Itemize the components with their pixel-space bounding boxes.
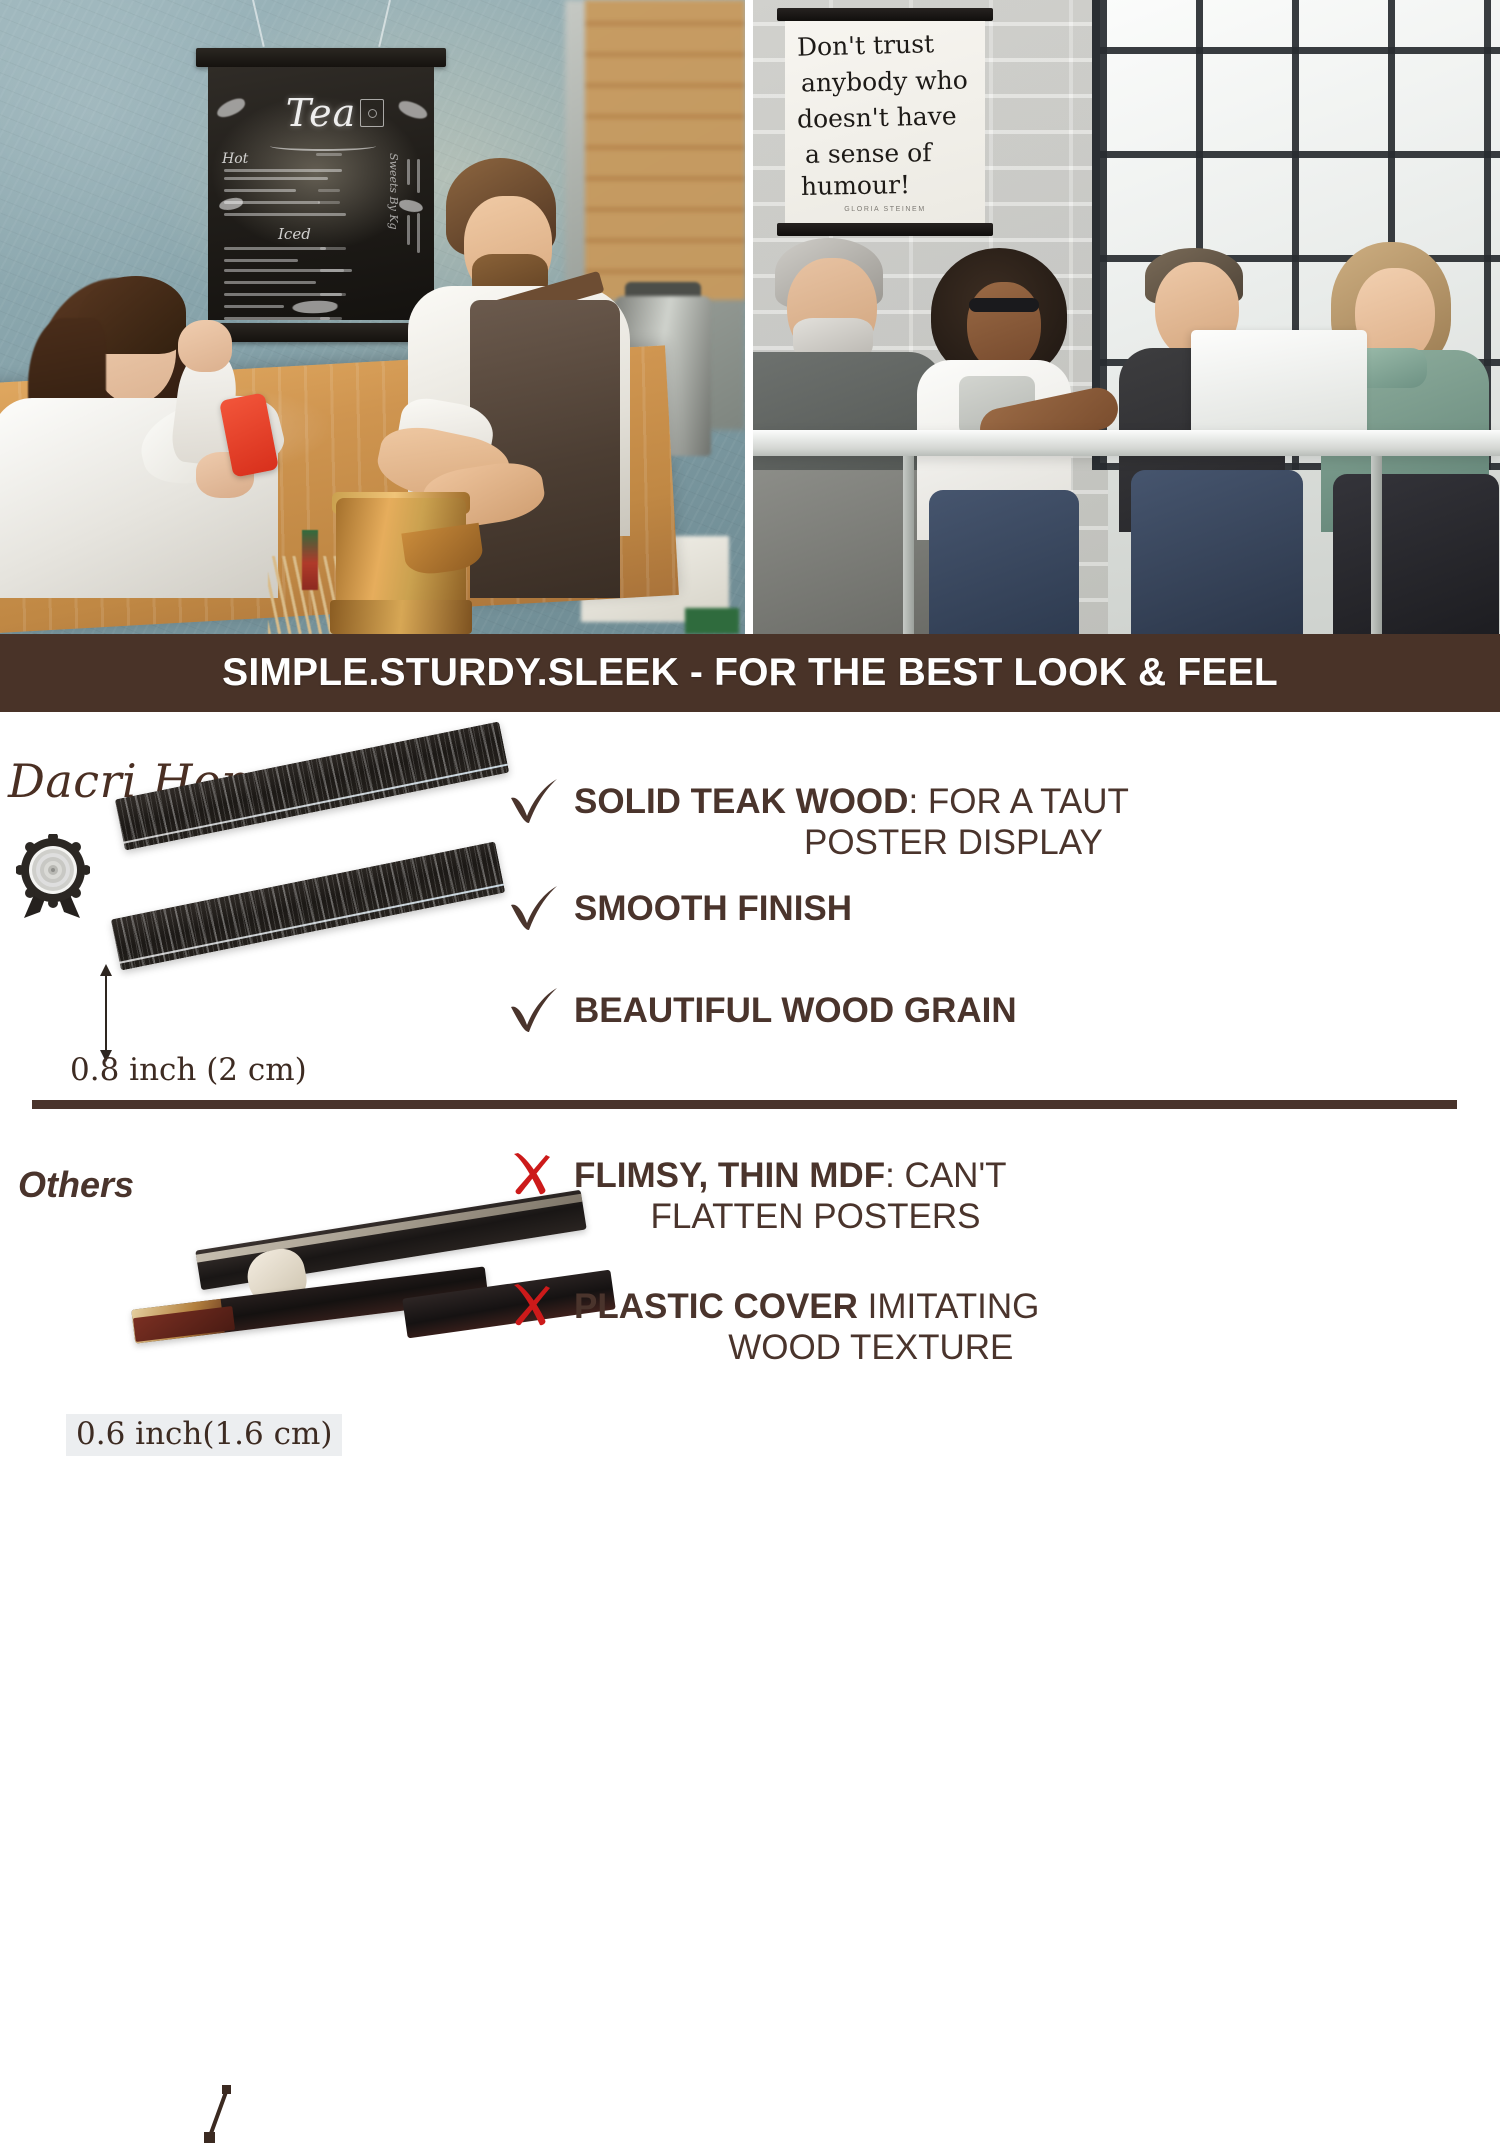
feature-item: FLIMSY, THIN MDF: CAN'T FLATTEN POSTERS	[508, 1152, 1488, 1237]
feature-lead: PLASTIC COVER	[574, 1287, 858, 1326]
feature-item: BEAUTIFUL WOOD GRAIN	[508, 987, 1488, 1033]
desk-leg	[1371, 456, 1382, 634]
cross-icon	[508, 1152, 574, 1198]
quote-poster-bottom-rail	[777, 223, 993, 236]
chalkboard-side-column: Sweets By Kg	[374, 153, 426, 303]
poster-top-rail	[196, 48, 446, 67]
check-icon	[508, 987, 574, 1033]
chalk-tag-icon	[360, 99, 384, 127]
others-label: Others	[18, 1164, 134, 1206]
quote-poster-paper: Don't trust anybody who doesn't have a s…	[785, 21, 985, 223]
photo-office-meeting: Don't trust anybody who doesn't have a s…	[753, 0, 1500, 634]
feature-item: SMOOTH FINISH	[508, 885, 1488, 931]
quote-line-4: a sense of	[805, 140, 932, 167]
feature-rest: CAN'T	[905, 1156, 1007, 1195]
feature-lead: SOLID TEAK WOOD	[574, 782, 908, 821]
teak-frame-strip	[111, 841, 505, 970]
photo-divider	[745, 0, 753, 634]
headline-banner: SIMPLE.STURDY.SLEEK - FOR THE BEST LOOK …	[0, 634, 1500, 712]
feature-rest: FOR A TAUT	[928, 782, 1129, 821]
syrup-bottle	[302, 530, 318, 590]
feature-rest-line2: POSTER DISPLAY	[574, 823, 1129, 864]
feature-lead: BEAUTIFUL WOOD GRAIN	[574, 991, 1017, 1030]
chalkboard-title: Tea	[208, 91, 434, 135]
feature-text: BEAUTIFUL WOOD GRAIN	[574, 987, 1017, 1032]
check-icon	[508, 778, 574, 824]
wooden-shelf	[585, 0, 745, 300]
section-divider	[32, 1100, 1457, 1109]
comparison-section: Dacri Home	[0, 712, 1500, 1484]
conference-desk	[753, 430, 1500, 456]
photo-strip: Tea Hot Iced	[0, 0, 1500, 634]
cross-icon	[508, 1283, 574, 1329]
poster-hanging-cord	[246, 0, 396, 46]
feature-rest: IMITATING	[868, 1287, 1040, 1326]
quote-line-3: doesn't have	[797, 103, 957, 131]
thickness-callout-leader	[196, 2084, 266, 2155]
photo-cafe-barista: Tea Hot Iced	[0, 0, 745, 634]
feature-text: FLIMSY, THIN MDF: CAN'T FLATTEN POSTERS	[574, 1152, 1007, 1237]
chalkboard-surface: Tea Hot Iced	[208, 67, 434, 320]
brass-kettle-base	[330, 600, 472, 634]
chalkboard-title-underline	[270, 141, 376, 151]
feature-item: PLASTIC COVER IMITATING WOOD TEXTURE	[508, 1283, 1488, 1368]
quote-poster-top-rail	[777, 8, 993, 21]
ours-feature-list: SOLID TEAK WOOD: FOR A TAUT POSTER DISPL…	[508, 778, 1488, 1033]
thickness-dimension-arrow	[98, 964, 114, 1062]
hanging-chalkboard-poster: Tea Hot Iced	[196, 22, 446, 342]
feature-rest-line2: WOOD TEXTURE	[574, 1328, 1039, 1369]
laptop	[1191, 330, 1367, 442]
feature-lead: SMOOTH FINISH	[574, 889, 852, 928]
feature-text: SMOOTH FINISH	[574, 885, 852, 930]
feature-text: PLASTIC COVER IMITATING WOOD TEXTURE	[574, 1283, 1039, 1368]
quote-attribution: GLORIA STEINEM	[785, 206, 985, 213]
others-thickness-label: 0.6 inch(1.6 cm)	[66, 1414, 342, 1456]
quote-line-1: Don't trust	[797, 31, 935, 60]
chalkboard-side-note: Sweets By Kg	[387, 153, 400, 230]
green-box	[685, 608, 739, 634]
desk-leg	[903, 456, 914, 634]
quote-line-5: humour!	[801, 172, 910, 199]
feature-lead: FLIMSY, THIN MDF	[574, 1156, 885, 1195]
award-rosette-icon	[16, 834, 90, 920]
check-icon	[508, 885, 574, 931]
ours-thickness-label: 0.8 inch (2 cm)	[70, 1052, 307, 1088]
quote-line-2: anybody who	[801, 68, 968, 96]
feature-text: SOLID TEAK WOOD: FOR A TAUT POSTER DISPL…	[574, 778, 1129, 863]
feature-item: SOLID TEAK WOOD: FOR A TAUT POSTER DISPL…	[508, 778, 1488, 863]
others-feature-list: FLIMSY, THIN MDF: CAN'T FLATTEN POSTERS …	[508, 1152, 1488, 1368]
hanging-quote-poster: Don't trust anybody who doesn't have a s…	[777, 8, 993, 236]
feature-rest-line2: FLATTEN POSTERS	[574, 1197, 1007, 1238]
headline-banner-text: SIMPLE.STURDY.SLEEK - FOR THE BEST LOOK …	[222, 651, 1278, 695]
